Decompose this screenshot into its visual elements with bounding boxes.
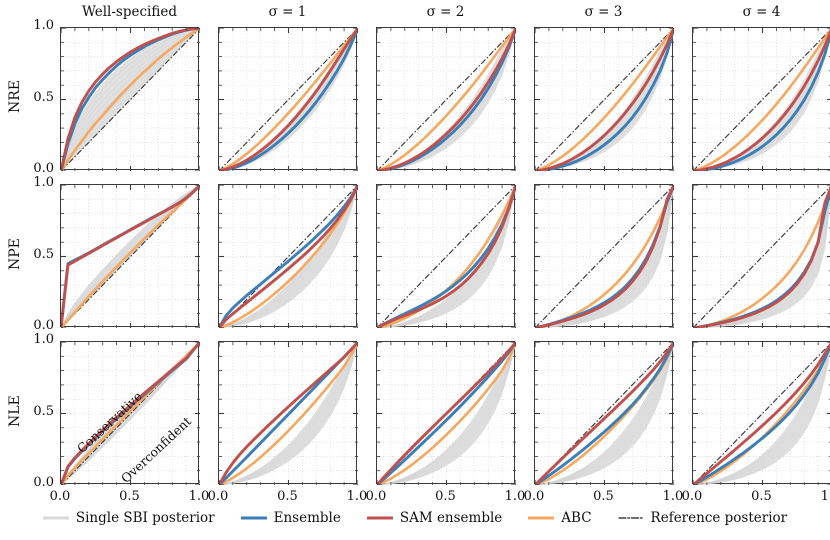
panel-nre-col3 [534, 27, 673, 170]
panel-nre-col0 [60, 27, 199, 170]
legend-label-2: SAM ensemble [400, 510, 502, 526]
ytick-label-r2-2: 1.0 [14, 332, 54, 347]
abc-line [693, 185, 830, 328]
legend-swatch-icon-3 [528, 512, 554, 524]
panel-nre-col4 [692, 27, 830, 170]
single-posterior-band [693, 342, 830, 485]
panel-npe-col0 [60, 184, 199, 327]
legend-swatch-icon-4 [618, 512, 644, 524]
ytick-label-r1-2: 1.0 [14, 175, 54, 190]
legend-item-0[interactable]: Single SBI posterior [43, 510, 215, 526]
legend-item-3[interactable]: ABC [528, 510, 591, 526]
ytick-label-r0-2: 1.0 [14, 18, 54, 33]
column-title-3: σ = 3 [534, 4, 673, 20]
ytick-label-r1-1: 0.5 [14, 247, 54, 262]
column-title-0: Well-specified [60, 4, 199, 20]
figure-legend: Single SBI posteriorEnsembleSAM ensemble… [0, 496, 830, 540]
column-title-2: σ = 2 [376, 4, 515, 20]
panel-nre-col2 [376, 27, 515, 170]
ytick-label-r2-1: 0.5 [14, 404, 54, 419]
legend-item-4[interactable]: Reference posterior [618, 510, 788, 526]
sam-ensemble-line [693, 185, 830, 328]
panel-nle-col2 [376, 341, 515, 484]
ytick-label-r1-0: 0.0 [14, 318, 54, 333]
panel-nle-col3 [534, 341, 673, 484]
legend-label-4: Reference posterior [651, 510, 788, 526]
ytick-label-r2-0: 0.0 [14, 475, 54, 490]
legend-swatch-icon-2 [367, 512, 393, 524]
panel-npe-col1 [218, 184, 357, 327]
column-title-4: σ = 4 [692, 4, 830, 20]
legend-label-1: Ensemble [274, 510, 341, 526]
legend-label-0: Single SBI posterior [76, 510, 215, 526]
legend-swatch-icon-0 [43, 512, 69, 524]
column-title-1: σ = 1 [218, 4, 357, 20]
calibration-figure-grid: Well-specifiedσ = 1σ = 2σ = 3σ = 4NRENPE… [0, 0, 830, 540]
ensemble-line [693, 185, 830, 328]
legend-swatch-icon-1 [241, 512, 267, 524]
panel-nre-col1 [218, 27, 357, 170]
reference-posterior-line [693, 185, 830, 328]
ytick-label-r0-0: 0.0 [14, 161, 54, 176]
panel-npe-col2 [376, 184, 515, 327]
panel-npe-col4 [692, 184, 830, 327]
single-posterior-band [693, 185, 830, 328]
panel-nle-col4 [692, 341, 830, 484]
legend-label-3: ABC [561, 510, 591, 526]
ytick-label-r0-1: 0.5 [14, 90, 54, 105]
panel-nle-col1 [218, 341, 357, 484]
panel-npe-col3 [534, 184, 673, 327]
legend-item-1[interactable]: Ensemble [241, 510, 341, 526]
legend-item-2[interactable]: SAM ensemble [367, 510, 502, 526]
